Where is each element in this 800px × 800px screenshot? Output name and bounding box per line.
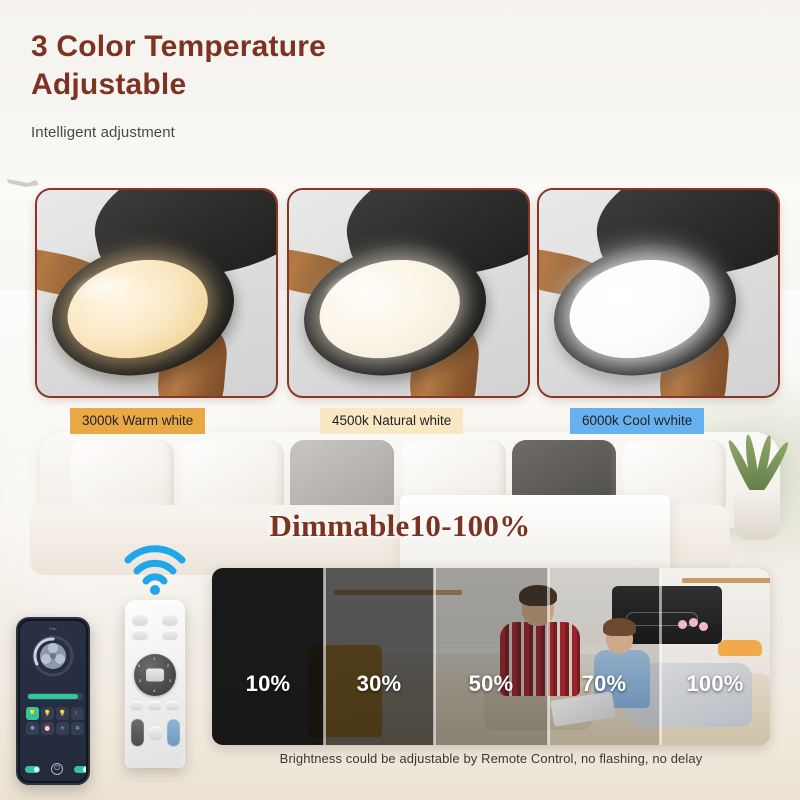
phone-app-screen[interactable]: Fan 💡 💡 💡 ☾ ✺ ⏰ ☀ ❄ [20, 621, 86, 781]
dim-band-30: 30% [324, 568, 434, 745]
dim-level-label: 100% [686, 671, 743, 697]
page-title-line-2: Adjustable [31, 66, 591, 104]
speed-number: 2 [167, 663, 169, 668]
icon-cell-bulb[interactable]: 💡 [41, 707, 54, 720]
dimmable-title: Dimmable10-100% [0, 508, 800, 544]
product-infographic: 3 Color Temperature Adjustable Intellige… [0, 0, 800, 800]
app-title: Fan [20, 626, 86, 631]
fan-photo-warm [37, 190, 276, 396]
remote-speed-dial[interactable]: 1 2 3 4 5 6 [134, 654, 176, 696]
color-panel-natural[interactable] [287, 188, 530, 398]
power-button[interactable]: ⏻ [51, 763, 63, 775]
phone-mockup[interactable]: Fan 💡 💡 💡 ☾ ✺ ⏰ ☀ ❄ [16, 617, 90, 785]
fan-dial-icon[interactable] [31, 634, 75, 678]
page-title: 3 Color Temperature Adjustable [31, 28, 591, 104]
toggle-right[interactable] [74, 766, 86, 773]
phone-bottom-bar[interactable]: ⏻ [25, 763, 86, 775]
dim-band-50: 50% [434, 568, 548, 745]
remote-button-timer[interactable] [132, 630, 148, 639]
dim-level-label: 50% [469, 671, 514, 697]
curtain-rod-icon [6, 176, 40, 188]
speed-number: 3 [169, 678, 171, 683]
fan-photo-cool [539, 190, 778, 396]
remote-button-c[interactable] [166, 701, 179, 709]
badge-natural-white: 4500k Natural white [320, 408, 463, 434]
color-panel-cool[interactable] [537, 188, 780, 398]
app-icon-grid[interactable]: 💡 💡 💡 ☾ ✺ ⏰ ☀ ❄ [26, 707, 86, 735]
toggle-left[interactable] [25, 766, 40, 773]
remote-dial-center[interactable] [146, 669, 164, 682]
dim-band-70: 70% [548, 568, 660, 745]
color-temperature-panels [0, 188, 800, 398]
icon-cell-mode[interactable]: ☀ [56, 722, 69, 735]
icon-cell-moon[interactable]: ☾ [71, 707, 84, 720]
remote-button-light-up[interactable] [132, 614, 148, 625]
badge-warm-white: 3000k Warm white [70, 408, 205, 434]
wifi-icon [124, 544, 186, 596]
dim-level-label: 70% [582, 671, 627, 697]
dim-band-100: 100% [660, 568, 770, 745]
remote-button-a[interactable] [130, 701, 143, 709]
icon-cell-bulb[interactable]: 💡 [26, 707, 39, 720]
icon-cell-timer[interactable]: ⏰ [41, 722, 54, 735]
remote-button-center[interactable] [149, 726, 162, 739]
remote-button-light-down[interactable] [162, 614, 178, 625]
dimming-caption: Brightness could be adjustable by Remote… [212, 751, 770, 766]
brightness-slider[interactable] [27, 693, 83, 700]
remote-button-reverse[interactable] [131, 718, 144, 746]
dim-level-label: 10% [246, 671, 291, 697]
page-title-line-1: 3 Color Temperature [31, 28, 591, 66]
speed-number: 6 [138, 663, 140, 668]
page-subtitle: Intelligent adjustment [31, 124, 175, 141]
dim-band-10: 10% [212, 568, 324, 745]
fan-photo-natural [289, 190, 528, 396]
dim-level-label: 30% [357, 671, 402, 697]
remote-control[interactable]: 1 2 3 4 5 6 [125, 600, 185, 768]
badge-cool-white: 6000k Cool wvhite [570, 408, 704, 434]
remote-button-forward[interactable] [167, 718, 180, 746]
remote-button-b[interactable] [148, 701, 161, 709]
icon-cell-fan[interactable]: ✺ [26, 722, 39, 735]
remote-button-mode[interactable] [162, 630, 178, 639]
dimming-strip: 10% 30% 50% 70% 100% [212, 568, 770, 745]
icon-cell-breeze[interactable]: ❄ [71, 722, 84, 735]
speed-number: 4 [153, 688, 155, 693]
icon-cell-bulb[interactable]: 💡 [56, 707, 69, 720]
color-panel-warm[interactable] [35, 188, 278, 398]
speed-number: 1 [153, 656, 155, 661]
speed-number: 5 [139, 678, 141, 683]
